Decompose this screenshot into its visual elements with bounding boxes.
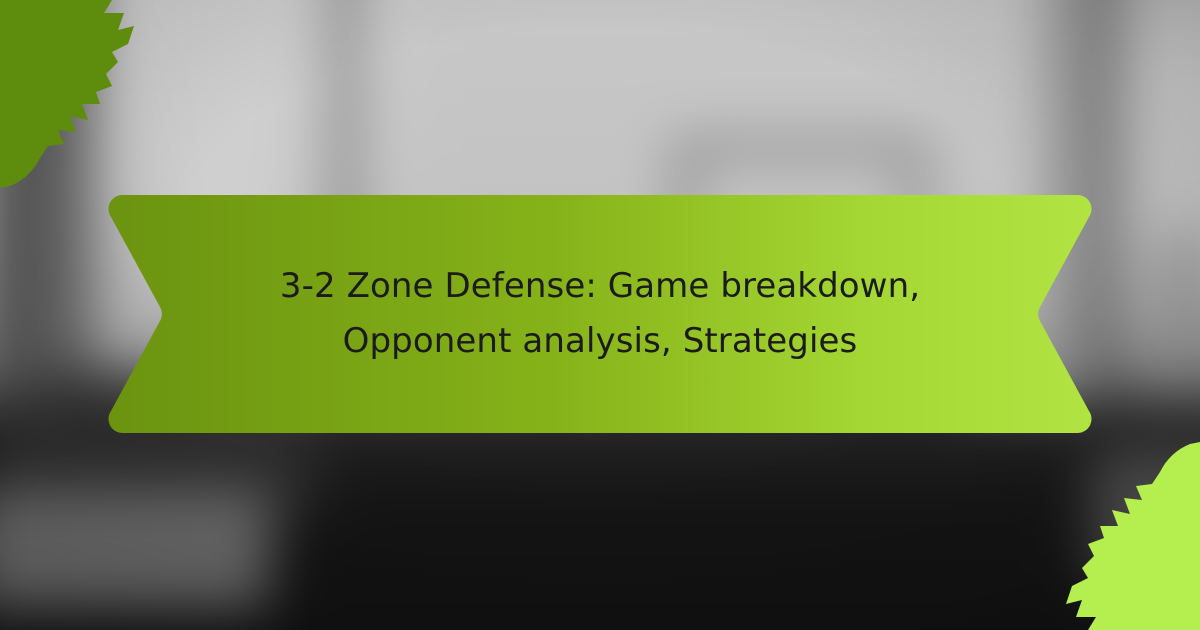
banner-title-line-1: 3-2 Zone Defense: Game breakdown, <box>280 259 920 314</box>
share-card: 3-2 Zone Defense: Game breakdown, Oppone… <box>0 0 1200 630</box>
banner-title-line-2: Opponent analysis, Strategies <box>343 314 858 369</box>
banner-title: 3-2 Zone Defense: Game breakdown, Oppone… <box>175 195 1025 433</box>
